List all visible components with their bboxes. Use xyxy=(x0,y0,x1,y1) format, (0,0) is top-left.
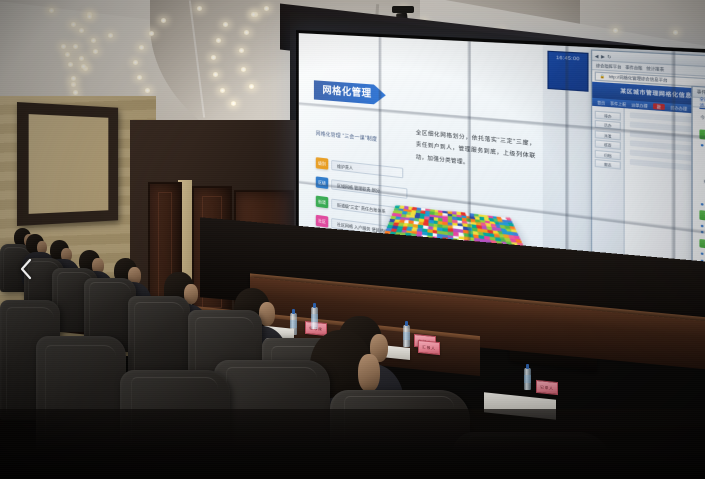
site-nav-badge: 新 xyxy=(653,103,665,110)
ceiling-downlight xyxy=(90,38,97,43)
water-bottle xyxy=(403,325,410,347)
ceiling-downlight xyxy=(263,6,270,11)
ceiling-downlight xyxy=(238,48,245,53)
ceiling-downlight xyxy=(148,31,155,36)
sidenav-item[interactable]: 报表 xyxy=(595,159,621,170)
site-nav-item[interactable]: 督办办理 xyxy=(670,104,687,111)
ceiling-downlight xyxy=(612,28,619,33)
ceiling-downlight xyxy=(86,14,93,19)
sidenav-item[interactable]: 已办 xyxy=(595,120,621,130)
nameplate-text: 记录人 xyxy=(537,385,557,392)
browser-back-icon[interactable]: ◀ xyxy=(595,53,599,59)
ceiling-downlight xyxy=(210,55,217,60)
ceiling-downlight xyxy=(248,84,255,89)
legend-chip: 社区 xyxy=(316,215,328,228)
ceiling-downlight xyxy=(196,6,203,11)
browser-forward-icon[interactable]: ▶ xyxy=(601,53,605,59)
browser-tab[interactable]: 综合指挥平台 xyxy=(596,62,621,69)
ceiling-downlight xyxy=(132,60,139,65)
clock-time: 16:45:00 xyxy=(549,54,588,62)
wall-decor-frame xyxy=(17,102,118,226)
clock-overlay: 16:45:00 xyxy=(547,51,588,92)
ceiling-downlight xyxy=(60,44,67,49)
ceiling-downlight xyxy=(144,88,151,93)
ceiling-downlight xyxy=(250,12,257,17)
feed-thread: 网格员上报 16:12:05 已派单 测验路与人民路交叉口为停车占道，影响通行 … xyxy=(699,129,705,214)
ceiling-downlight xyxy=(80,64,87,69)
ceiling-downlight xyxy=(64,52,71,57)
screenshot-root: 网格化管理 网格化管理 “三会一课”制度 全区细化网格划分，依托落实“三定”三度… xyxy=(0,0,705,479)
water-bottle xyxy=(311,307,318,329)
ceiling-downlight xyxy=(160,18,167,23)
ceiling-downlight xyxy=(72,90,79,95)
ceiling-downlight xyxy=(78,56,85,61)
ceiling-downlight xyxy=(215,38,222,43)
site-nav-item[interactable]: 事件上报 xyxy=(610,100,626,107)
site-nav-item[interactable]: 首页 xyxy=(597,99,605,105)
ceiling-downlight xyxy=(78,28,85,33)
browser-tab[interactable]: 统计报表 xyxy=(646,65,664,72)
gallery-prev-button[interactable] xyxy=(14,254,38,284)
legend-item: 区级 区域网格 管理职责 划分 xyxy=(316,176,412,199)
ceiling-downlight xyxy=(138,45,145,50)
lock-icon: 🔒 xyxy=(600,72,605,80)
chat-tab-all[interactable]: 全部消息 xyxy=(699,96,705,110)
slide-body-text: 全区细化网格划分，依托落实“三定”三度，责任到户到人，管理服务到底，上级列体联动… xyxy=(416,128,536,177)
ceiling-downlight xyxy=(219,88,226,93)
ceiling-downlight xyxy=(243,30,250,35)
nameplate: 汇报人 xyxy=(418,340,440,355)
ceiling-downlight xyxy=(212,72,219,77)
ceiling-downlight xyxy=(70,82,77,87)
ceiling-downlight xyxy=(70,76,77,81)
legend-chip: 级别 xyxy=(316,157,328,170)
legend-label: 区域网格 管理职责 划分 xyxy=(331,179,407,199)
feed-summary: 今日上报 12 条 · 待办 3 条 · 办结 9 条 xyxy=(699,114,705,131)
sidenav-item[interactable]: 派发 xyxy=(595,130,621,140)
sidenav-item[interactable]: 待办 xyxy=(595,110,621,120)
chevron-left-icon xyxy=(19,258,33,280)
water-bottle xyxy=(524,368,531,390)
ceiling-downlight xyxy=(92,49,99,54)
browser-refresh-icon[interactable]: ↻ xyxy=(607,53,611,59)
site-nav-item[interactable]: 派单办理 xyxy=(631,102,647,109)
floor xyxy=(0,409,705,479)
ceiling-downlight xyxy=(240,67,247,72)
ceiling-downlight xyxy=(672,30,679,35)
ceiling-downlight xyxy=(72,44,79,49)
legend-item: 级别 维护责人 xyxy=(316,157,412,179)
ceiling-downlight xyxy=(222,22,229,27)
legend-label: 维护责人 xyxy=(331,159,403,177)
ceiling-downlight xyxy=(230,101,237,106)
sidenav-item[interactable]: 归档 xyxy=(595,149,621,160)
legend-chip: 区级 xyxy=(316,176,328,189)
ceiling-downlight xyxy=(67,62,74,67)
slide-title: 网格化管理 xyxy=(314,80,386,105)
legend-chip: 街道 xyxy=(316,196,328,209)
slide-subtitle: 网格化管理 “三会一课”制度 xyxy=(316,130,391,147)
ceiling-downlight xyxy=(48,8,55,13)
ceiling-downlight xyxy=(70,22,77,27)
nameplate: 记录人 xyxy=(536,380,558,395)
sidenav-item[interactable]: 核查 xyxy=(595,139,621,149)
browser-tab[interactable]: 事件台账 xyxy=(625,64,642,71)
ceiling-downlight xyxy=(136,75,143,80)
nameplate-text: 汇报人 xyxy=(419,345,439,352)
ceiling-downlight xyxy=(107,33,114,38)
